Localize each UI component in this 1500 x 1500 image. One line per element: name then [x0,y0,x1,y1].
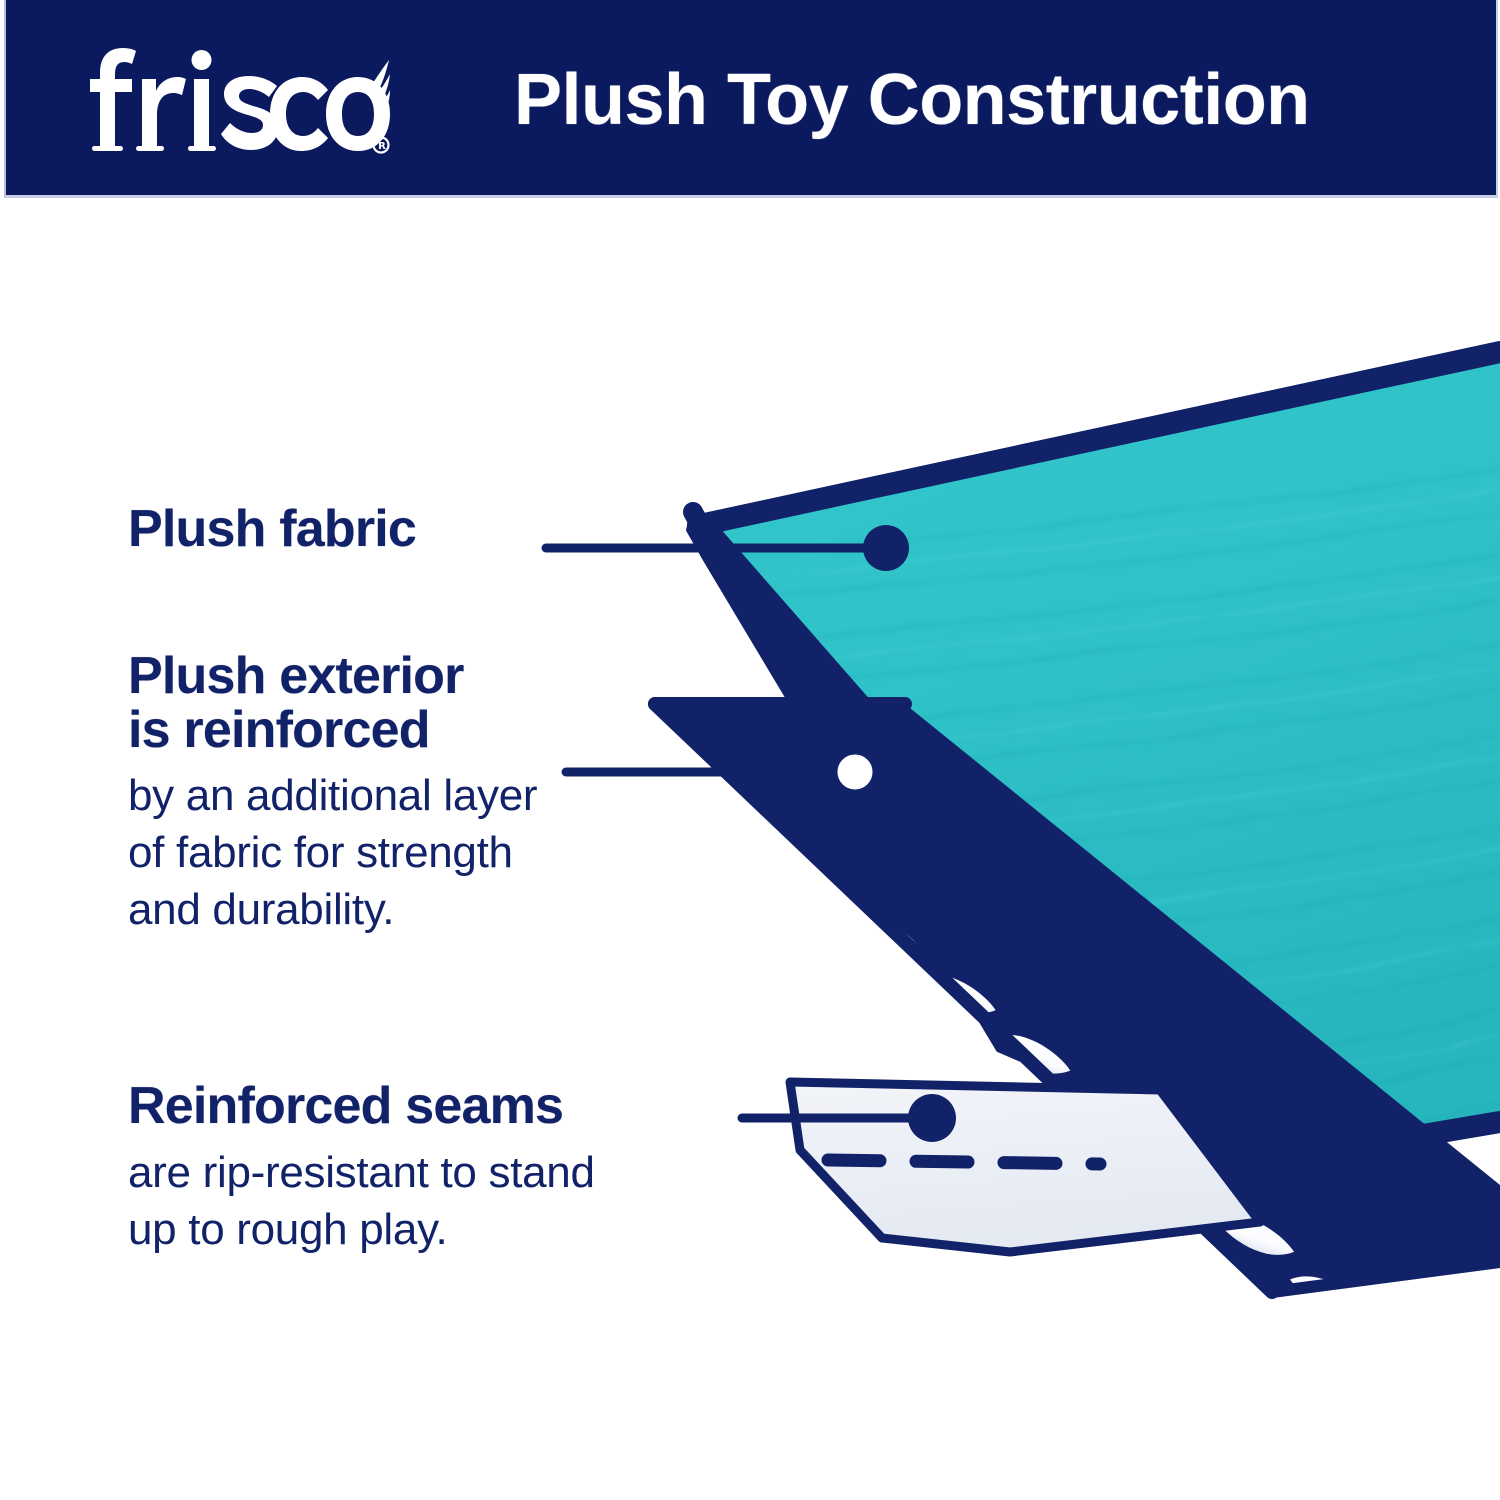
leader-reinforced-seams [742,1094,956,1142]
callout-heading-plush-fabric: Plush fabric [128,503,416,557]
leader-lines [546,525,956,1142]
frisco-wordmark-icon: R [90,46,390,154]
callout-body-reinforced-seams: are rip-resistant to stand up to rough p… [128,1144,595,1258]
leader-plush-fabric [546,525,909,571]
reinforced-seam-flap [790,1082,1260,1252]
leader-dot-plush-fabric [863,525,909,571]
callout-plush-exterior: Plush exterior is reinforced by an addit… [128,650,537,939]
callout-body-plush-exterior: by an additional layer of fabric for str… [128,767,537,939]
callout-reinforced-seams: Reinforced seams are rip-resistant to st… [128,1080,595,1258]
header-bar: R Plush Toy Construction [4,0,1498,198]
callout-heading-plush-exterior: Plush exterior is reinforced [128,650,537,757]
callout-plush-fabric: Plush fabric [128,503,416,557]
callout-heading-reinforced-seams: Reinforced seams [128,1080,595,1134]
infographic-page: R Plush Toy Construction [0,0,1500,1500]
leader-dot-plush-exterior [833,750,877,794]
dashed-stitch-line [828,1160,1100,1164]
plush-fabric-panel [688,352,1500,1176]
page-title: Plush Toy Construction [514,42,1310,158]
frisco-logo: R [90,46,390,154]
leader-plush-exterior [566,750,877,794]
leader-dot-reinforced-seams [908,1094,956,1142]
